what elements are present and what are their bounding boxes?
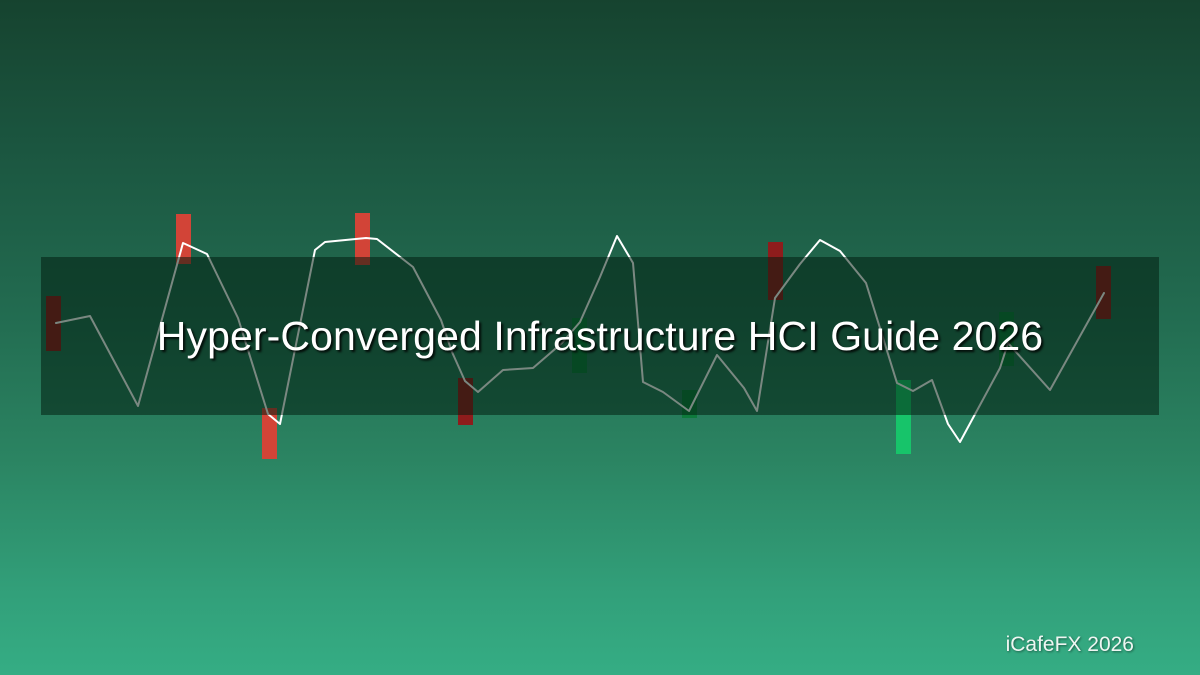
brand-watermark: iCafeFX 2026 xyxy=(1006,633,1134,657)
page-title: Hyper-Converged Infrastructure HCI Guide… xyxy=(41,257,1159,415)
poster-canvas: Hyper-Converged Infrastructure HCI Guide… xyxy=(0,0,1200,675)
